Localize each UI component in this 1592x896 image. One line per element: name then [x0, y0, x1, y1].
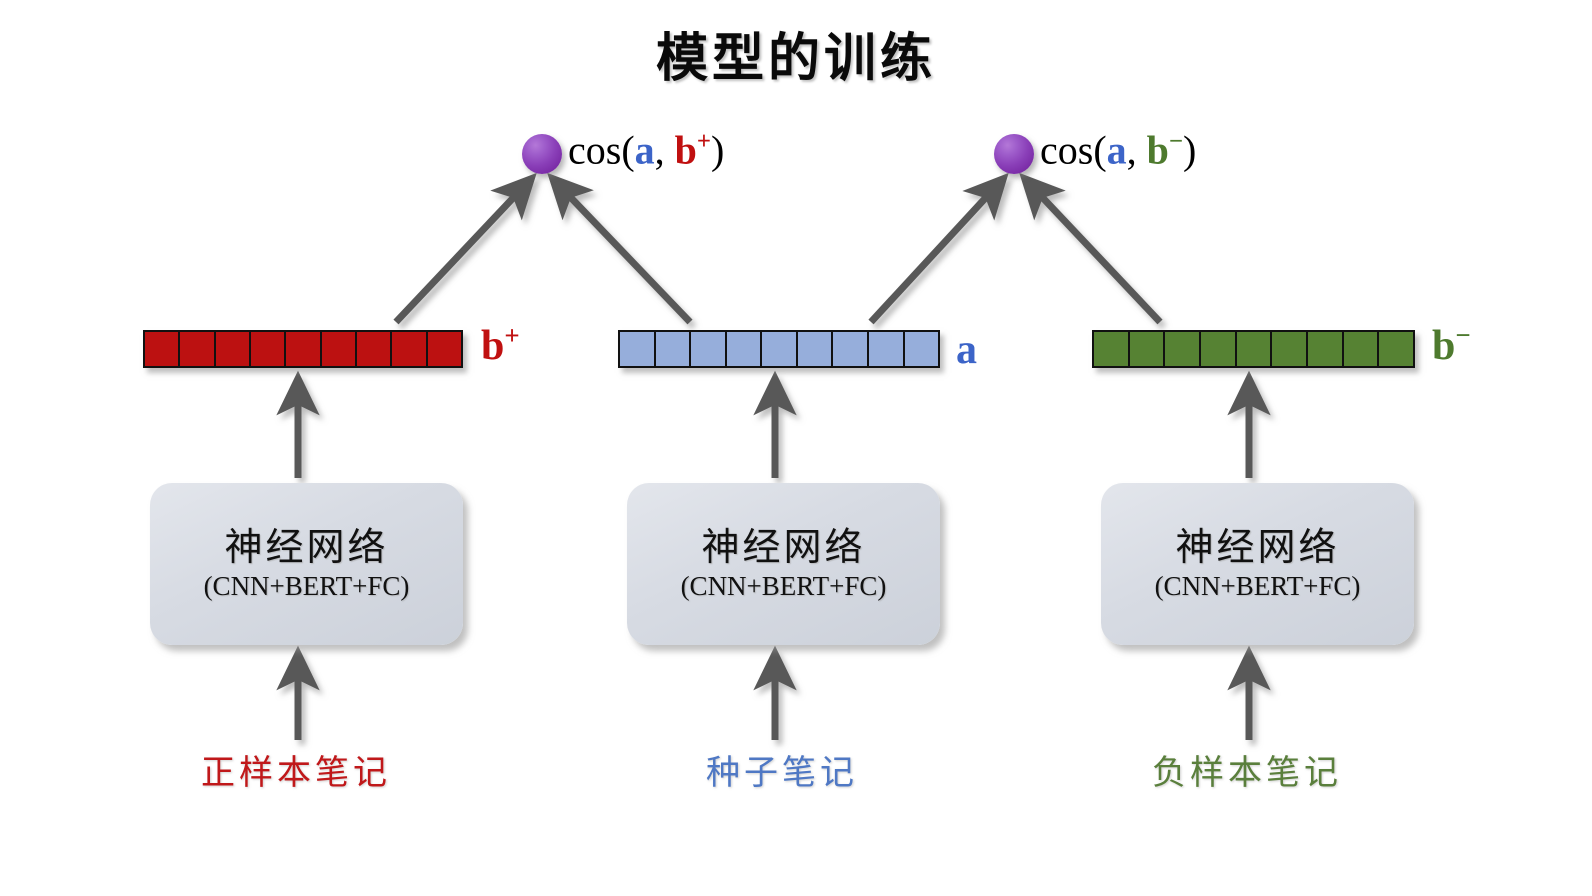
vector-positive-superscript: +: [504, 320, 519, 350]
vector-negative-name: b: [1432, 323, 1455, 369]
vector-cell: [762, 332, 798, 366]
vector-cell: [798, 332, 834, 366]
cos-positive-arg-b: b: [675, 127, 697, 172]
vector-cell: [1165, 332, 1201, 366]
vector-cell: [322, 332, 357, 366]
vector-cell: [833, 332, 869, 366]
cos-positive-arg-a: a: [635, 127, 655, 172]
input-seed-label: 种子笔记: [706, 756, 858, 790]
vector-cell: [1272, 332, 1308, 366]
cos-positive-suffix: ): [711, 127, 724, 172]
encoder-seed-subtitle: (CNN+BERT+FC): [681, 573, 887, 600]
vector-cell: [251, 332, 286, 366]
cos-negative-arg-a: a: [1107, 127, 1127, 172]
vector-cell: [1344, 332, 1380, 366]
vector-cell: [216, 332, 251, 366]
vector-cell: [691, 332, 727, 366]
cos-negative-suffix: ): [1183, 127, 1196, 172]
vector-negative: [1092, 330, 1415, 368]
vector-cell: [1130, 332, 1166, 366]
vector-seed: [618, 330, 940, 368]
vector-cell: [1379, 332, 1413, 366]
vector-seed-label: a: [956, 326, 977, 371]
vector-cell: [1201, 332, 1237, 366]
cos-positive-prefix: cos(: [568, 127, 635, 172]
encoder-negative-title: 神经网络: [1175, 528, 1339, 568]
encoder-positive: 神经网络 (CNN+BERT+FC): [150, 483, 463, 645]
cos-negative-node-icon: [994, 134, 1034, 174]
vector-negative-superscript: −: [1455, 320, 1470, 350]
vector-positive-label: b+: [481, 322, 520, 367]
cos-negative-separator: ,: [1127, 127, 1147, 172]
cos-negative-arg-b: b: [1147, 127, 1169, 172]
vector-positive: [143, 330, 463, 368]
vector-cell: [180, 332, 215, 366]
vector-cell: [905, 332, 939, 366]
encoder-negative: 神经网络 (CNN+BERT+FC): [1101, 483, 1414, 645]
vector-negative-label: b−: [1432, 322, 1471, 367]
cos-negative-prefix: cos(: [1040, 127, 1107, 172]
vector-cell: [1094, 332, 1130, 366]
vector-cell: [1308, 332, 1344, 366]
arrow-bplus-to-cos-positive: [396, 179, 531, 322]
cos-positive-arg-b-superscript: +: [697, 128, 711, 155]
vector-cell: [620, 332, 656, 366]
cos-positive-separator: ,: [655, 127, 675, 172]
encoder-positive-title: 神经网络: [224, 528, 388, 568]
input-negative-label: 负样本笔记: [1152, 756, 1342, 790]
vector-cell: [869, 332, 905, 366]
vector-positive-name: b: [481, 323, 504, 369]
vector-cell: [145, 332, 180, 366]
vector-cell: [428, 332, 461, 366]
cos-negative-arg-b-superscript: −: [1169, 128, 1183, 155]
diagram-canvas: 模型的训练: [0, 0, 1592, 896]
encoder-negative-subtitle: (CNN+BERT+FC): [1155, 573, 1361, 600]
arrow-a-to-cos-negative: [871, 179, 1003, 322]
encoder-positive-subtitle: (CNN+BERT+FC): [204, 573, 410, 600]
vector-cell: [727, 332, 763, 366]
vector-cell: [392, 332, 427, 366]
vector-cell: [1237, 332, 1273, 366]
cos-positive-node-icon: [522, 134, 562, 174]
vector-cell: [656, 332, 692, 366]
page-title: 模型的训练: [0, 16, 1592, 91]
encoder-seed-title: 神经网络: [701, 528, 865, 568]
cos-positive-label: cos(a, b+): [568, 130, 724, 170]
vector-seed-name: a: [956, 327, 977, 373]
vector-cell: [286, 332, 321, 366]
arrow-a-to-cos-positive: [553, 179, 690, 322]
cos-negative-label: cos(a, b−): [1040, 130, 1196, 170]
input-positive-label: 正样本笔记: [201, 756, 391, 790]
vector-cell: [357, 332, 392, 366]
encoder-seed: 神经网络 (CNN+BERT+FC): [627, 483, 940, 645]
arrow-bminus-to-cos-negative: [1025, 179, 1160, 322]
